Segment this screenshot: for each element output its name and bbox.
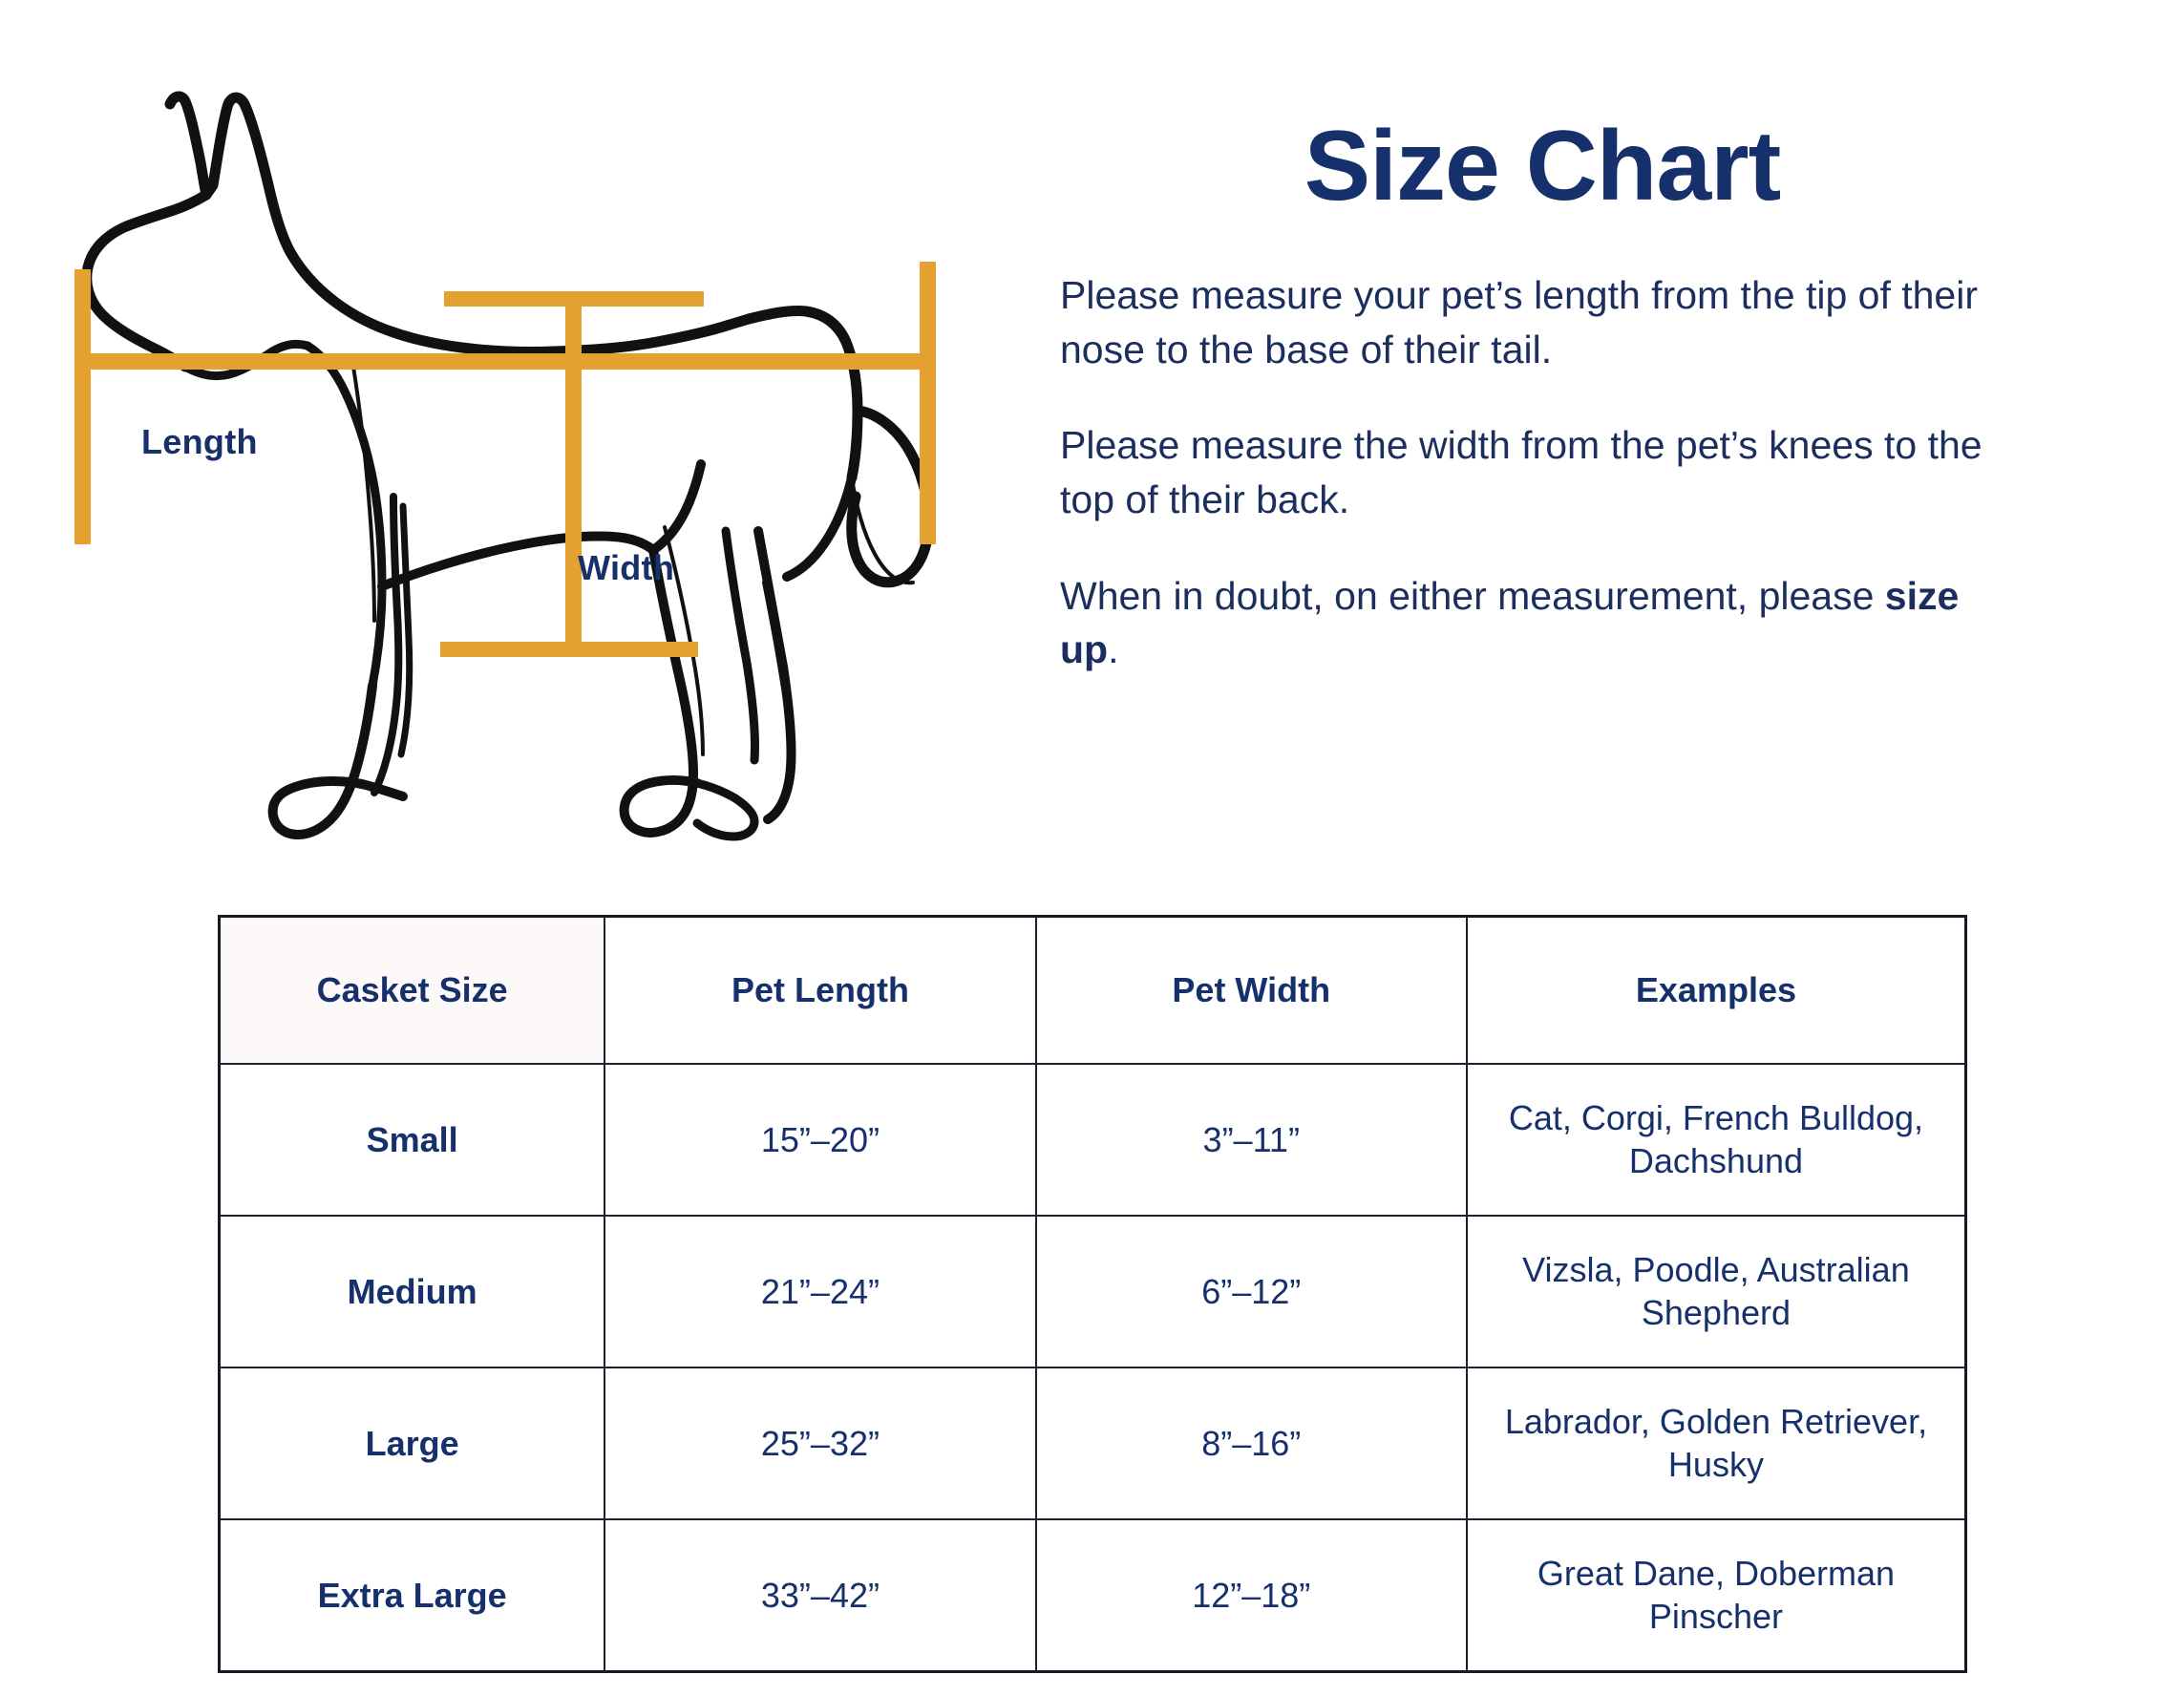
page-title: Size Chart bbox=[1060, 115, 2025, 219]
column-header-casket-size: Casket Size bbox=[220, 917, 605, 1065]
cell-pet-length: 25”–32” bbox=[604, 1367, 1035, 1519]
size-chart-page: Length Width Size Chart Please measure y… bbox=[0, 0, 2184, 1696]
cell-pet-width: 8”–16” bbox=[1036, 1367, 1467, 1519]
cell-pet-length: 33”–42” bbox=[604, 1519, 1035, 1672]
column-header-examples: Examples bbox=[1467, 917, 1966, 1065]
column-header-pet-length: Pet Length bbox=[604, 917, 1035, 1065]
cell-pet-length: 21”–24” bbox=[604, 1216, 1035, 1367]
cell-examples: Labrador, Golden Retriever, Husky bbox=[1467, 1367, 1966, 1519]
sizeup-prefix: When in doubt, on either measurement, pl… bbox=[1060, 574, 1885, 618]
dog-diagram-svg bbox=[57, 86, 1070, 869]
cell-casket-size: Small bbox=[220, 1064, 605, 1216]
cell-casket-size: Large bbox=[220, 1367, 605, 1519]
pet-casket-size-table: Casket Size Pet Length Pet Width Example… bbox=[218, 915, 1967, 1673]
length-measurement-label: Length bbox=[141, 422, 258, 462]
dog-outline bbox=[87, 96, 929, 837]
width-measurement-label: Width bbox=[578, 548, 674, 588]
cell-examples: Vizsla, Poodle, Australian Shepherd bbox=[1467, 1216, 1966, 1367]
table-row: Large 25”–32” 8”–16” Labrador, Golden Re… bbox=[220, 1367, 1966, 1519]
sizeup-instruction: When in doubt, on either measurement, pl… bbox=[1060, 569, 2025, 677]
width-instruction: Please measure the width from the pet’s … bbox=[1060, 418, 2025, 526]
cell-casket-size: Medium bbox=[220, 1216, 605, 1367]
cell-examples: Great Dane, Doberman Pinscher bbox=[1467, 1519, 1966, 1672]
instructions-column: Size Chart Please measure your pet’s len… bbox=[1060, 115, 2025, 677]
column-header-pet-width: Pet Width bbox=[1036, 917, 1467, 1065]
cell-casket-size: Extra Large bbox=[220, 1519, 605, 1672]
size-table-container: Casket Size Pet Length Pet Width Example… bbox=[218, 915, 1967, 1673]
cell-pet-width: 3”–11” bbox=[1036, 1064, 1467, 1216]
dog-measurement-diagram: Length Width bbox=[57, 86, 1070, 869]
table-row: Medium 21”–24” 6”–12” Vizsla, Poodle, Au… bbox=[220, 1216, 1966, 1367]
table-row: Extra Large 33”–42” 12”–18” Great Dane, … bbox=[220, 1519, 1966, 1672]
table-row: Small 15”–20” 3”–11” Cat, Corgi, French … bbox=[220, 1064, 1966, 1216]
cell-pet-width: 12”–18” bbox=[1036, 1519, 1467, 1672]
cell-examples: Cat, Corgi, French Bulldog, Dachshund bbox=[1467, 1064, 1966, 1216]
cell-pet-width: 6”–12” bbox=[1036, 1216, 1467, 1367]
table-header-row: Casket Size Pet Length Pet Width Example… bbox=[220, 917, 1966, 1065]
length-instruction: Please measure your pet’s length from th… bbox=[1060, 268, 2025, 376]
sizeup-suffix: . bbox=[1108, 627, 1118, 671]
cell-pet-length: 15”–20” bbox=[604, 1064, 1035, 1216]
